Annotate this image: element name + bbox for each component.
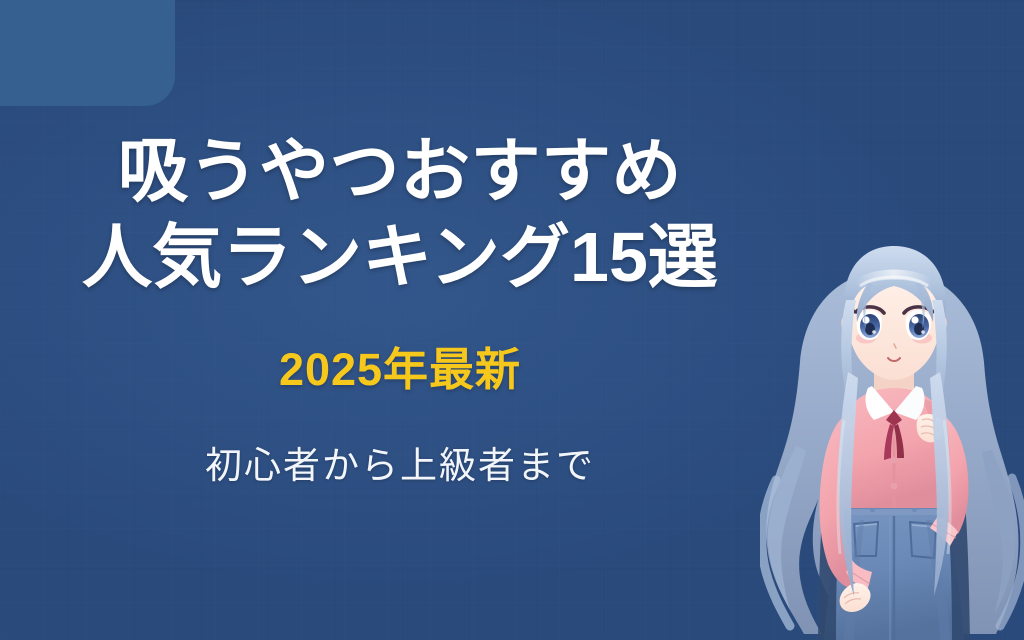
white-collar bbox=[866, 386, 925, 420]
headline-line-2: 人気ランキング15選 bbox=[82, 214, 718, 300]
text-content-stack: 吸うやつおすすめ 人気ランキング15選 2025年最新 初心者から上級者まで bbox=[0, 0, 800, 640]
headline-line-1: 吸うやつおすすめ bbox=[118, 128, 682, 214]
front-hair bbox=[841, 246, 947, 424]
left-eye bbox=[851, 307, 884, 340]
year-badge: 2025年最新 bbox=[279, 344, 521, 396]
left-hand bbox=[840, 583, 871, 612]
head bbox=[841, 264, 946, 380]
promo-banner: 吸うやつおすすめ 人気ランキング15選 2025年最新 初心者から上級者まで bbox=[0, 0, 1024, 640]
subtitle-text: 初心者から上級者まで bbox=[205, 444, 595, 488]
pink-blouse bbox=[819, 388, 968, 588]
front-side-hair bbox=[838, 372, 950, 596]
right-hand bbox=[917, 414, 944, 442]
back-hair bbox=[762, 272, 1024, 634]
ribbon-tie bbox=[884, 410, 904, 460]
denim-skirt bbox=[824, 496, 964, 640]
right-eye bbox=[904, 307, 937, 340]
